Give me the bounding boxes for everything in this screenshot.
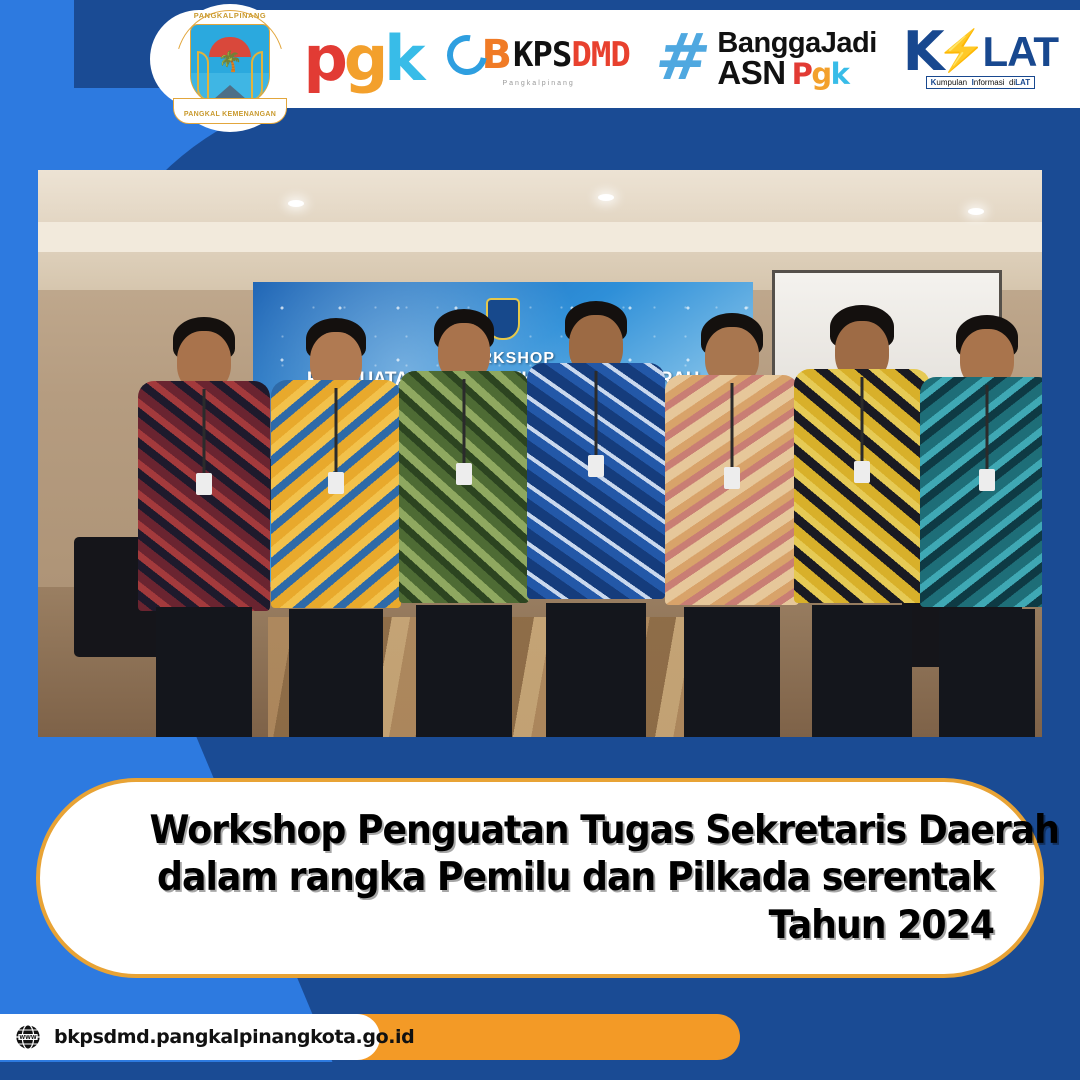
person-3 — [394, 307, 534, 737]
emblem-text-bottom: PANGKAL KEMENANGAN — [174, 111, 286, 118]
pgk-logo: p g k — [303, 34, 421, 85]
bkpsdmd-tagline: Pangkalpinang — [502, 80, 574, 87]
event-title-line2: dalam rangka Pemilu dan Pilkada serentak — [150, 854, 994, 902]
globe-www-icon: WWW — [14, 1023, 42, 1051]
person-1 — [134, 317, 274, 737]
website-footer: WWW bkpsdmd.pangkalpinangkota.go.id — [0, 1014, 740, 1060]
emblem-rice-right-icon — [251, 51, 263, 101]
event-group-photo: WORKSHOP PENGUATAN TUGAS SEKRETARIS DAER… — [38, 170, 1042, 737]
emblem-palm-icon: 🌴 — [210, 53, 250, 71]
emblem-shield: 🌴 — [190, 24, 270, 108]
photo-ceiling-cove — [38, 222, 1042, 252]
pgk-logo-k: k — [384, 34, 421, 85]
person-2 — [266, 312, 406, 737]
event-title-card: Workshop Penguatan Tugas Sekretaris Daer… — [36, 778, 1044, 978]
photo-downlight — [968, 208, 984, 215]
kilat-sub-k-rest: umpulan — [936, 78, 967, 87]
background-bottom-strip — [0, 1062, 1080, 1080]
footer-url-pill[interactable]: WWW bkpsdmd.pangkalpinangkota.go.id — [0, 1014, 380, 1060]
kilat-sub-tail-bold: LAT — [1015, 78, 1030, 87]
svg-text:WWW: WWW — [19, 1035, 37, 1041]
event-title-line1: Workshop Penguatan Tugas Sekretaris Daer… — [150, 807, 994, 855]
emblem-mountain-icon — [214, 85, 246, 99]
photo-downlight — [598, 194, 614, 201]
hashtag-icon: # — [652, 33, 713, 84]
kilat-lat: LAT — [982, 34, 1058, 70]
emblem-rice-left-icon — [197, 51, 209, 101]
banggajadi-suffix: Pgk — [792, 61, 849, 88]
kilat-sub-i-rest: nformasi — [974, 78, 1005, 87]
emblem-text-top: PANGKALPINANG — [174, 11, 286, 20]
bkpsdmd-logo: B KPS DMD Pangkalpinang — [447, 32, 629, 87]
lightning-bolt-icon: ⚡ — [937, 34, 987, 68]
kilat-logo: K ⚡ LAT Kumpulan Informasi diLAT — [903, 29, 1058, 90]
banggajadi-line2: ASN — [717, 57, 785, 88]
person-5 — [660, 309, 804, 737]
bkpsdmd-word-red: DMD — [571, 35, 629, 75]
banggajadi-line1: BanggaJadi — [717, 30, 876, 57]
photo-downlight — [288, 200, 304, 207]
pgk-logo-p: p — [303, 34, 343, 85]
pangkalpinang-city-emblem: PANGKALPINANG 🌴 PANGKAL KEMENANGAN — [166, 4, 294, 132]
footer-url-text: bkpsdmd.pangkalpinangkota.go.id — [54, 1026, 414, 1048]
person-7 — [914, 311, 1042, 737]
banggajadi-asn-pgk-logo: # BanggaJadi ASN Pgk — [656, 30, 877, 89]
pgk-logo-g: g — [344, 34, 384, 85]
bkpsdmd-word-dark: KPS — [513, 35, 571, 75]
person-4 — [522, 301, 670, 737]
event-title-line3: Tahun 2024 — [150, 902, 994, 950]
kilat-subtitle: Kumpulan Informasi diLAT — [926, 76, 1036, 89]
